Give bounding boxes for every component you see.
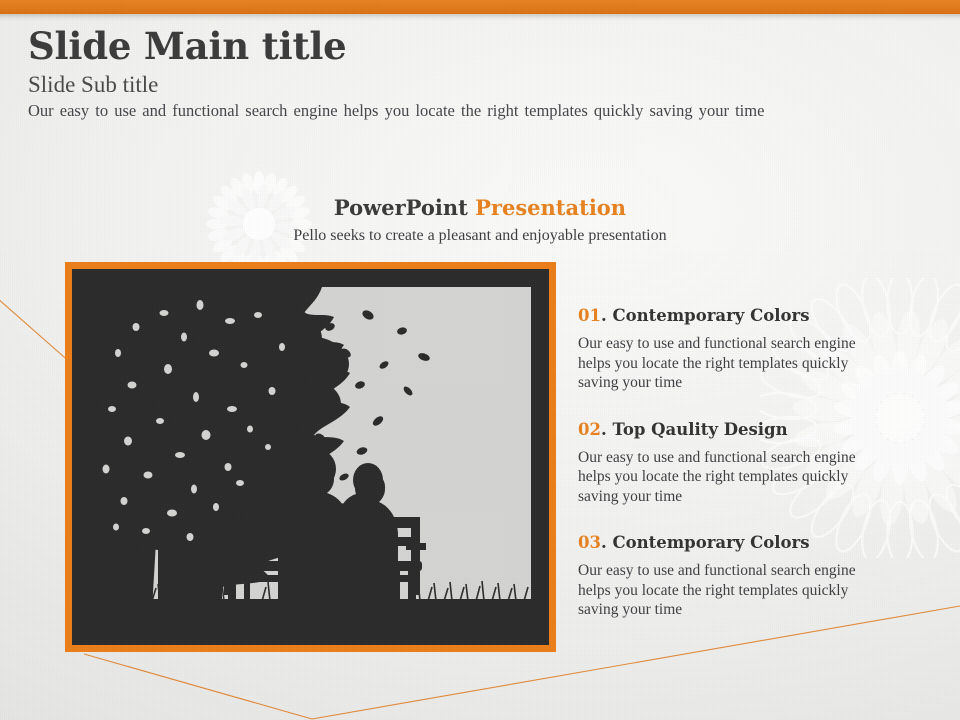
list-item[interactable]: 03. Contemporary Colors Our easy to use … — [578, 532, 878, 620]
feature-separator: . — [601, 420, 607, 439]
feature-list: 01. Contemporary Colors Our easy to use … — [578, 305, 878, 620]
illustration-image — [72, 269, 549, 645]
feature-number: 03 — [578, 533, 601, 552]
slide-canvas: Slide Main title Slide Sub title Our eas… — [0, 0, 960, 720]
slide-header: Slide Main title Slide Sub title Our eas… — [28, 24, 764, 121]
caption-title: PowerPoint Presentation — [0, 195, 960, 221]
feature-number: 01 — [578, 306, 601, 325]
page-subtitle: Slide Sub title — [28, 71, 764, 99]
feature-body: Our easy to use and functional search en… — [578, 561, 870, 620]
feature-heading: 01. Contemporary Colors — [578, 305, 878, 327]
caption-title-accent: Presentation — [475, 195, 626, 220]
feature-body: Our easy to use and functional search en… — [578, 448, 870, 507]
illustration-frame — [65, 262, 556, 652]
list-item[interactable]: 02. Top Qaulity Design Our easy to use a… — [578, 419, 878, 507]
feature-number: 02 — [578, 420, 601, 439]
top-accent-bar-shadow — [0, 14, 960, 21]
list-item[interactable]: 01. Contemporary Colors Our easy to use … — [578, 305, 878, 393]
feature-body: Our easy to use and functional search en… — [578, 334, 870, 393]
caption-title-plain: PowerPoint — [334, 195, 475, 220]
section-caption: PowerPoint Presentation Pello seeks to c… — [0, 195, 960, 247]
feature-title: Top Qaulity Design — [612, 420, 787, 439]
top-accent-bar — [0, 0, 960, 14]
park-bench-silhouette-graphic — [72, 269, 549, 645]
page-description: Our easy to use and functional search en… — [28, 101, 764, 121]
feature-separator: . — [601, 533, 607, 552]
page-title: Slide Main title — [28, 24, 764, 68]
caption-subtitle: Pello seeks to create a pleasant and enj… — [0, 225, 960, 247]
feature-separator: . — [601, 306, 607, 325]
feature-title: Contemporary Colors — [612, 306, 809, 325]
feature-heading: 03. Contemporary Colors — [578, 532, 878, 554]
feature-heading: 02. Top Qaulity Design — [578, 419, 878, 441]
feature-title: Contemporary Colors — [612, 533, 809, 552]
